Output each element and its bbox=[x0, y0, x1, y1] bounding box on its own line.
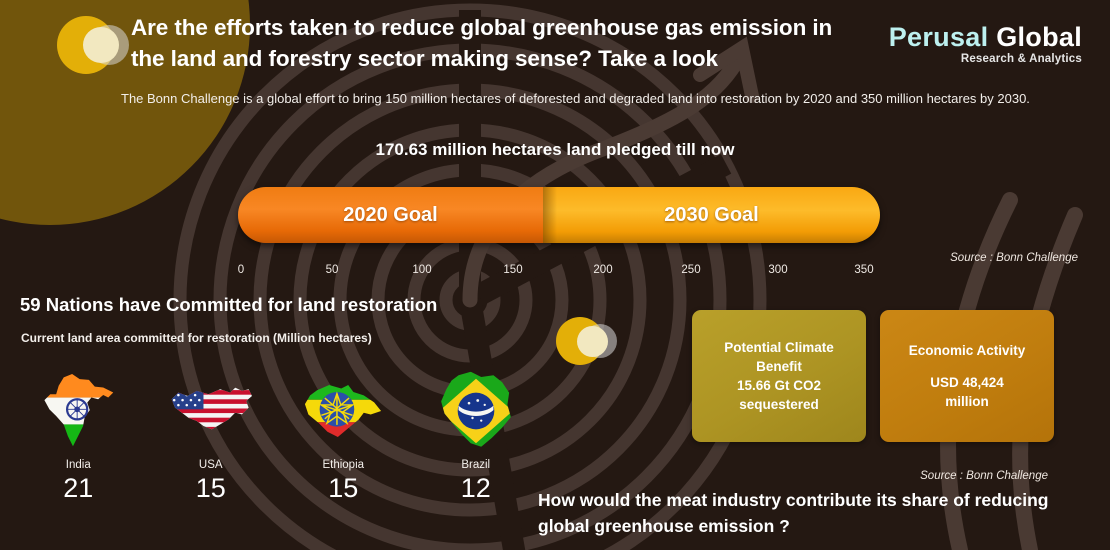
infographic-canvas: Are the efforts taken to reduce global g… bbox=[0, 0, 1110, 550]
brand-name-primary: Perusal bbox=[889, 22, 989, 52]
stat-card-title-line1: Potential Climate bbox=[724, 338, 834, 357]
country-list: India 21 bbox=[12, 368, 542, 533]
brand-name-secondary: Global bbox=[988, 22, 1082, 52]
brazil-map-flag-icon bbox=[432, 368, 520, 454]
brand-name: Perusal Global bbox=[889, 22, 1082, 52]
page-title: Are the efforts taken to reduce global g… bbox=[131, 12, 851, 74]
goal-progress-bar: 2020 Goal 2030 Goal bbox=[238, 187, 880, 243]
axis-tick-350: 350 bbox=[854, 264, 873, 276]
brand-logo: Perusal Global Research & Analytics bbox=[889, 22, 1082, 65]
axis-tick-250: 250 bbox=[681, 264, 700, 276]
stat-card-climate-benefit: Potential Climate Benefit 15.66 Gt CO2 s… bbox=[692, 310, 866, 442]
axis-tick-200: 200 bbox=[593, 264, 612, 276]
usa-map-flag-icon bbox=[165, 368, 257, 454]
list-item: Brazil 12 bbox=[410, 368, 543, 533]
bar-segment-2030: 2030 Goal bbox=[543, 187, 880, 243]
nations-subheading: Current land area committed for restorat… bbox=[21, 331, 372, 345]
country-name: Brazil bbox=[461, 459, 490, 471]
stat-card-value-line1: 15.66 Gt CO2 bbox=[737, 376, 821, 395]
stat-card-value-line1: USD 48,424 bbox=[930, 373, 1004, 392]
closing-question: How would the meat industry contribute i… bbox=[538, 487, 1078, 539]
country-name: USA bbox=[199, 459, 223, 471]
logo-cream-circle bbox=[83, 27, 119, 63]
axis-tick-50: 50 bbox=[326, 264, 339, 276]
ethiopia-map-flag-icon bbox=[298, 368, 388, 454]
bar-segment-2020-label: 2020 Goal bbox=[343, 204, 438, 227]
stat-card-economic-activity: Economic Activity USD 48,424 million bbox=[880, 310, 1054, 442]
list-item: India 21 bbox=[12, 368, 145, 533]
source-note-top: Source : Bonn Challenge bbox=[950, 252, 1078, 264]
bar-segment-2030-label: 2030 Goal bbox=[664, 204, 759, 227]
intro-paragraph: The Bonn Challenge is a global effort to… bbox=[121, 89, 1061, 108]
stat-card-value-line2: sequestered bbox=[739, 395, 819, 414]
country-name: India bbox=[66, 459, 91, 471]
india-map-flag-icon bbox=[36, 368, 120, 454]
overlapping-circles-logo-icon bbox=[57, 14, 132, 76]
list-item: Ethiopia 15 bbox=[277, 368, 410, 533]
nations-heading: 59 Nations have Committed for land resto… bbox=[20, 294, 437, 316]
bar-segment-2020: 2020 Goal bbox=[238, 187, 543, 243]
list-item: USA 15 bbox=[145, 368, 278, 533]
pledged-total-label: 170.63 million hectares land pledged til… bbox=[0, 140, 1110, 160]
source-note-bottom: Source : Bonn Challenge bbox=[920, 470, 1048, 482]
logo-cream-circle bbox=[577, 326, 608, 357]
country-value: 21 bbox=[63, 472, 93, 504]
stat-card-group: Potential Climate Benefit 15.66 Gt CO2 s… bbox=[692, 310, 1054, 442]
brand-tagline: Research & Analytics bbox=[889, 53, 1082, 65]
country-value: 15 bbox=[328, 472, 358, 504]
stat-card-title-line2: Benefit bbox=[756, 357, 802, 376]
country-name: Ethiopia bbox=[322, 459, 364, 471]
stat-card-value-line2: million bbox=[945, 392, 989, 411]
overlapping-circles-logo-icon bbox=[556, 315, 618, 367]
country-value: 12 bbox=[461, 472, 491, 504]
axis-tick-100: 100 bbox=[412, 264, 431, 276]
axis-tick-150: 150 bbox=[503, 264, 522, 276]
country-value: 15 bbox=[196, 472, 226, 504]
bar-axis: 0 50 100 150 200 250 300 350 bbox=[238, 264, 880, 282]
stat-card-title-line1: Economic Activity bbox=[909, 341, 1026, 360]
axis-tick-0: 0 bbox=[238, 264, 244, 276]
axis-tick-300: 300 bbox=[768, 264, 787, 276]
